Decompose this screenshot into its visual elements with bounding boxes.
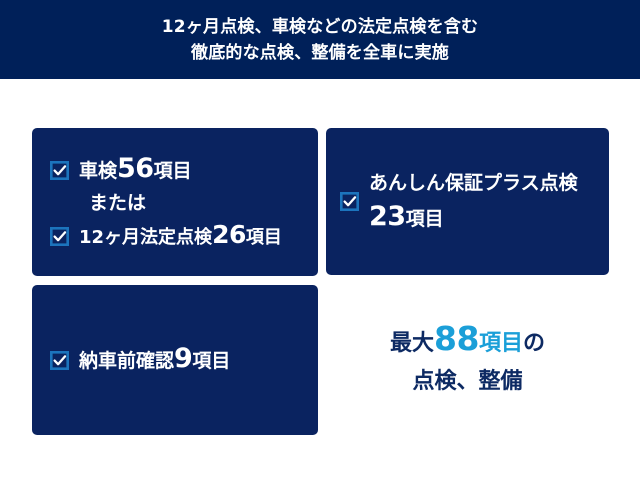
row-text-prefix: 12ヶ月法定点検 xyxy=(79,227,212,248)
summary-suffix: の xyxy=(523,331,545,356)
warranty-number: 23 xyxy=(369,201,406,232)
checkbox-checked-icon xyxy=(50,161,69,180)
list-item: 12ヶ月法定点検26項目 xyxy=(50,222,308,251)
summary-highlight-suffix: 項目 xyxy=(479,331,523,356)
summary-line-2: 点検、整備 xyxy=(412,363,522,401)
card-warranty-text: あんしん保証プラス点検 23項目 xyxy=(369,167,578,236)
warranty-number-suffix: 項目 xyxy=(406,208,444,230)
header-banner: 12ヶ月点検、車検などの法定点検を含む 徹底的な点検、整備を全車に実施 xyxy=(0,0,640,79)
row-number: 56 xyxy=(117,153,154,184)
card-pre-delivery-check: 納車前確認9項目 xyxy=(32,285,318,435)
list-item-label: 12ヶ月法定点検26項目 xyxy=(79,222,282,251)
list-item: 車検56項目 xyxy=(50,156,308,184)
row-text-prefix: 車検 xyxy=(79,160,117,182)
card-pre-delivery-content: 納車前確認9項目 xyxy=(50,285,308,435)
total-items-summary: 最大88項目の 点検、整備 xyxy=(326,285,609,435)
warranty-line-2: 23項目 xyxy=(369,200,578,236)
row-text-suffix: 項目 xyxy=(246,227,282,248)
pre-delivery-number: 9 xyxy=(174,343,192,374)
conjunction-label: または xyxy=(89,190,146,216)
row-number: 26 xyxy=(212,220,246,249)
checkbox-checked-icon xyxy=(50,227,69,246)
pre-delivery-text-suffix: 項目 xyxy=(192,350,230,372)
header-line-2: 徹底的な点検、整備を全車に実施 xyxy=(191,40,449,66)
card-warranty-content: あんしん保証プラス点検 23項目 xyxy=(340,128,603,275)
card-inspection-items: 車検56項目 または 12ヶ月法定点検26項目 xyxy=(32,128,318,276)
header-line-1: 12ヶ月点検、車検などの法定点検を含む xyxy=(162,14,478,40)
summary-line-1: 最大88項目の xyxy=(390,320,545,363)
checkbox-checked-icon xyxy=(340,192,359,211)
card-warranty-plus-inspection: あんしん保証プラス点検 23項目 xyxy=(326,128,609,275)
pre-delivery-label: 納車前確認9項目 xyxy=(79,346,230,374)
card-inspection-items-content: 車検56項目 または 12ヶ月法定点検26項目 xyxy=(50,156,308,251)
warranty-line-1: あんしん保証プラス点検 xyxy=(369,167,578,200)
list-item-label: 車検56項目 xyxy=(79,156,192,184)
inspection-summary-page: 12ヶ月点検、車検などの法定点検を含む 徹底的な点検、整備を全車に実施 車検56… xyxy=(0,0,640,480)
summary-total-number: 88 xyxy=(434,319,479,358)
pre-delivery-text-prefix: 納車前確認 xyxy=(79,350,174,372)
row-text-suffix: 項目 xyxy=(154,160,192,182)
list-item-conjunction: または xyxy=(50,190,308,216)
checkbox-checked-icon xyxy=(50,351,69,370)
summary-prefix: 最大 xyxy=(390,331,434,356)
